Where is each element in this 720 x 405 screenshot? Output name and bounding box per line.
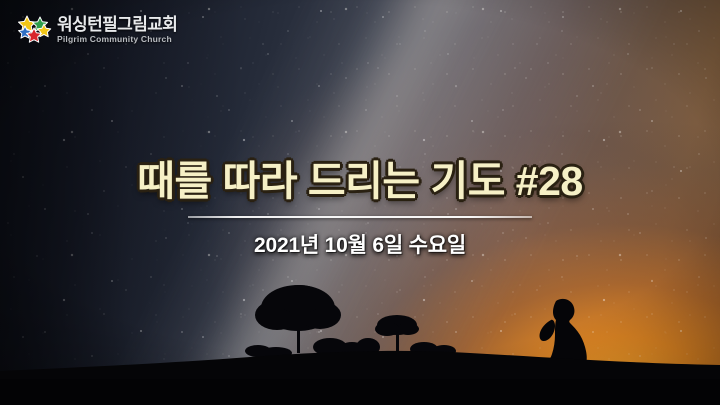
church-logo: 워싱턴필그림교회 Pilgrim Community Church (18, 14, 177, 46)
title-divider (188, 216, 532, 218)
title-block: 때를 따라 드리는 기도 #28 2021년 10월 6일 수요일 (0, 160, 720, 259)
slide-subtitle-date: 2021년 10월 6일 수요일 (0, 229, 720, 259)
logo-text-block: 워싱턴필그림교회 Pilgrim Community Church (57, 16, 177, 44)
star-cluster-logo-icon (18, 14, 52, 46)
logo-english-name: Pilgrim Community Church (57, 35, 177, 44)
presentation-slide: 워싱턴필그림교회 Pilgrim Community Church 때를 따라 … (0, 0, 720, 405)
slide-title: 때를 따라 드리는 기도 #28 (0, 160, 720, 203)
logo-korean-name: 워싱턴필그림교회 (57, 16, 177, 33)
landscape-silhouette (0, 275, 720, 405)
